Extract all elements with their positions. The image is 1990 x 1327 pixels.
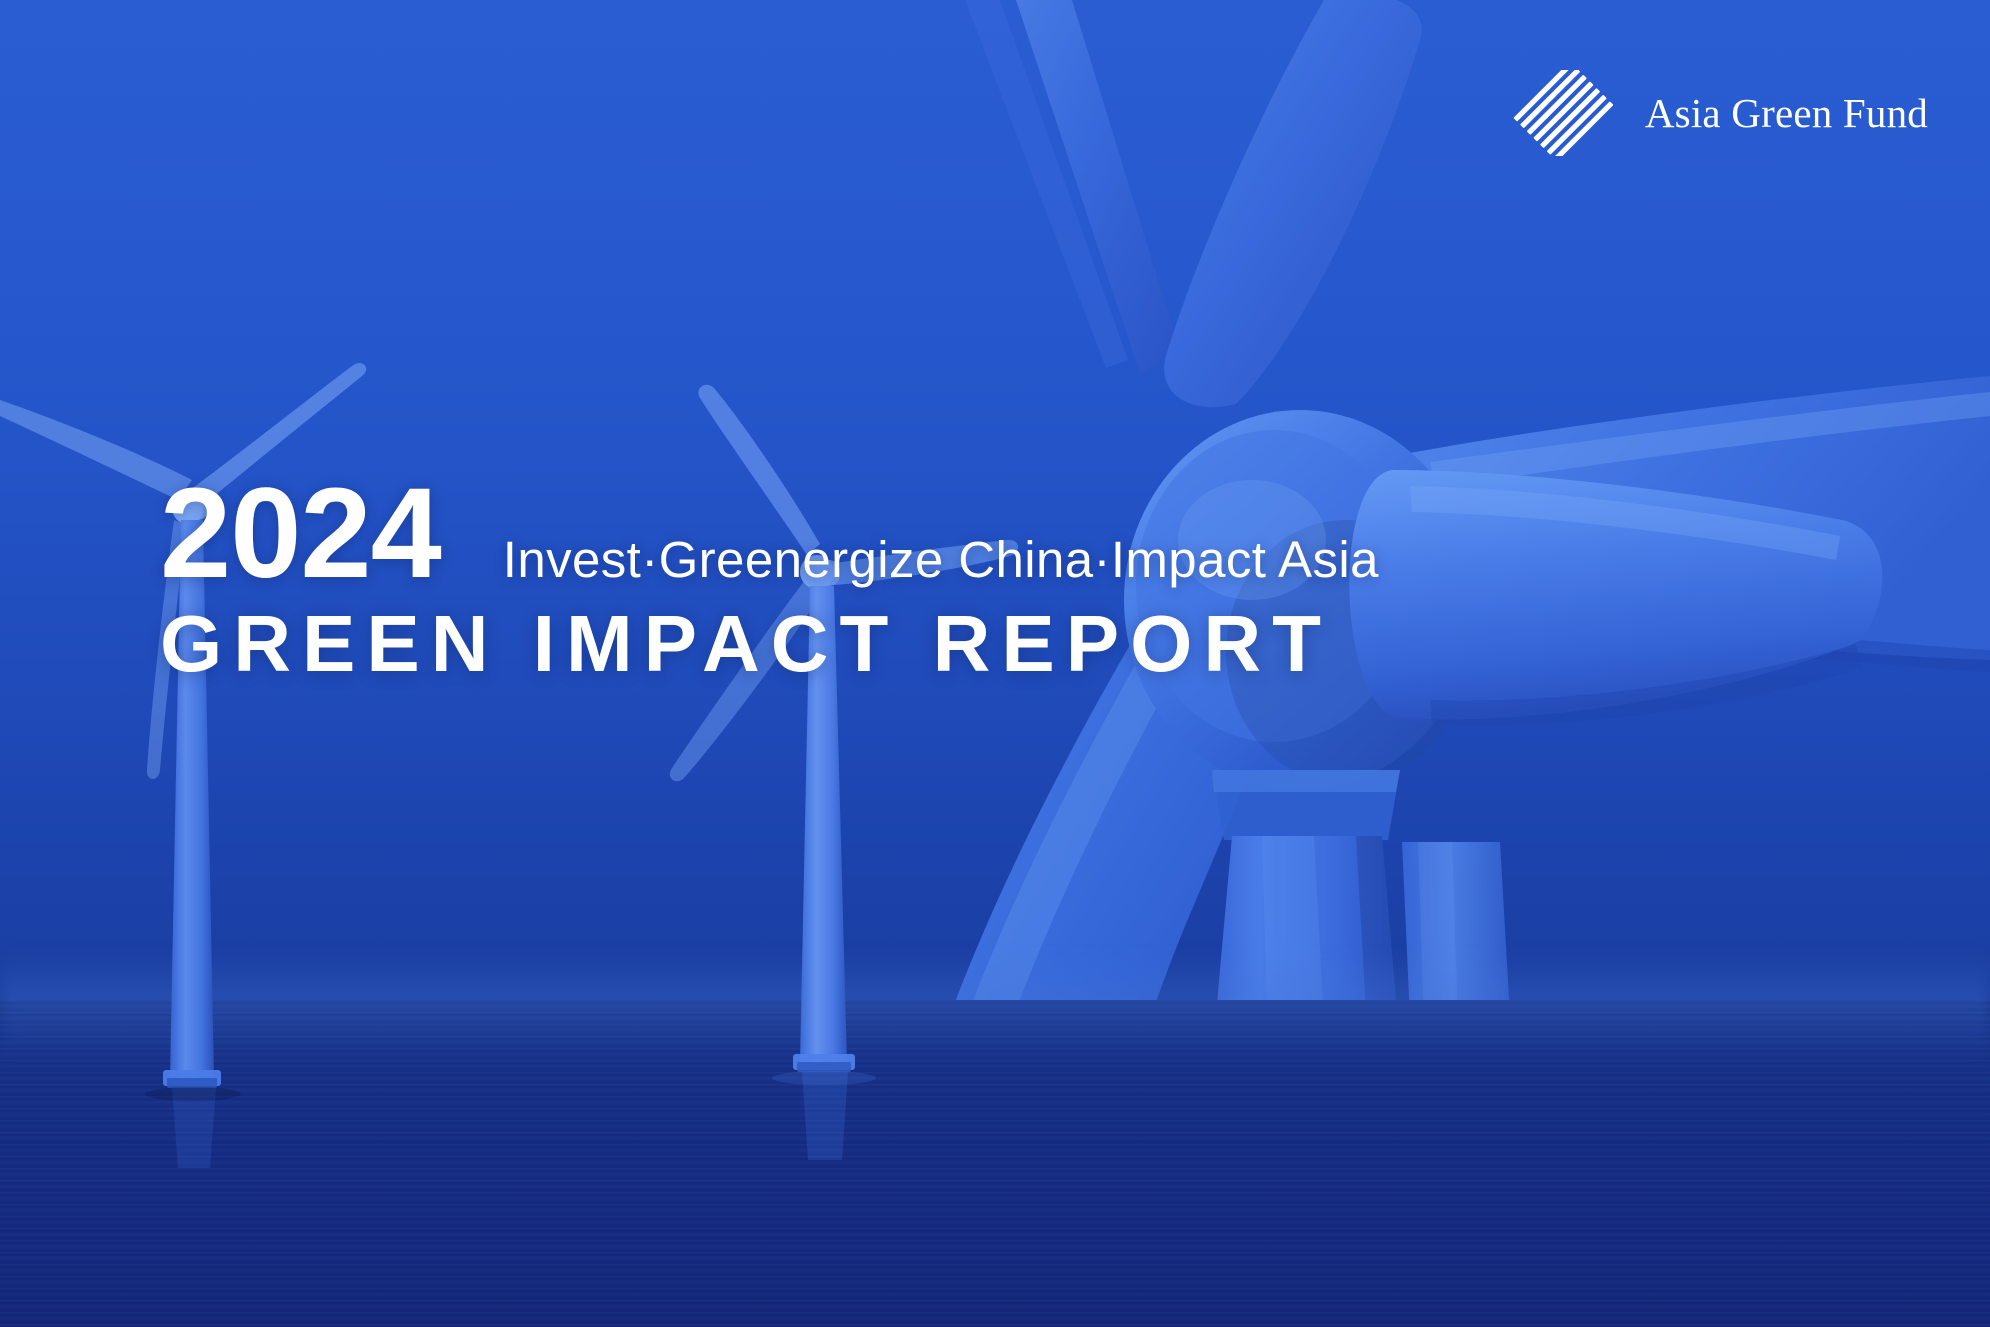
brand-logo: Asia Green Fund: [1511, 70, 1928, 156]
year-tagline-row: 2024 Invest·Greenergize China·Impact Asi…: [160, 470, 1420, 588]
title-block: 2024 Invest·Greenergize China·Impact Asi…: [160, 470, 1420, 686]
report-headline: GREEN IMPACT REPORT: [160, 602, 1420, 686]
report-tagline: Invest·Greenergize China·Impact Asia: [503, 534, 1379, 585]
report-cover: 2024 Invest·Greenergize China·Impact Asi…: [0, 0, 1990, 1327]
diagonal-stripes-diamond-logo-icon: [1511, 70, 1619, 156]
brand-name: Asia Green Fund: [1645, 89, 1928, 137]
report-year: 2024: [160, 470, 441, 598]
